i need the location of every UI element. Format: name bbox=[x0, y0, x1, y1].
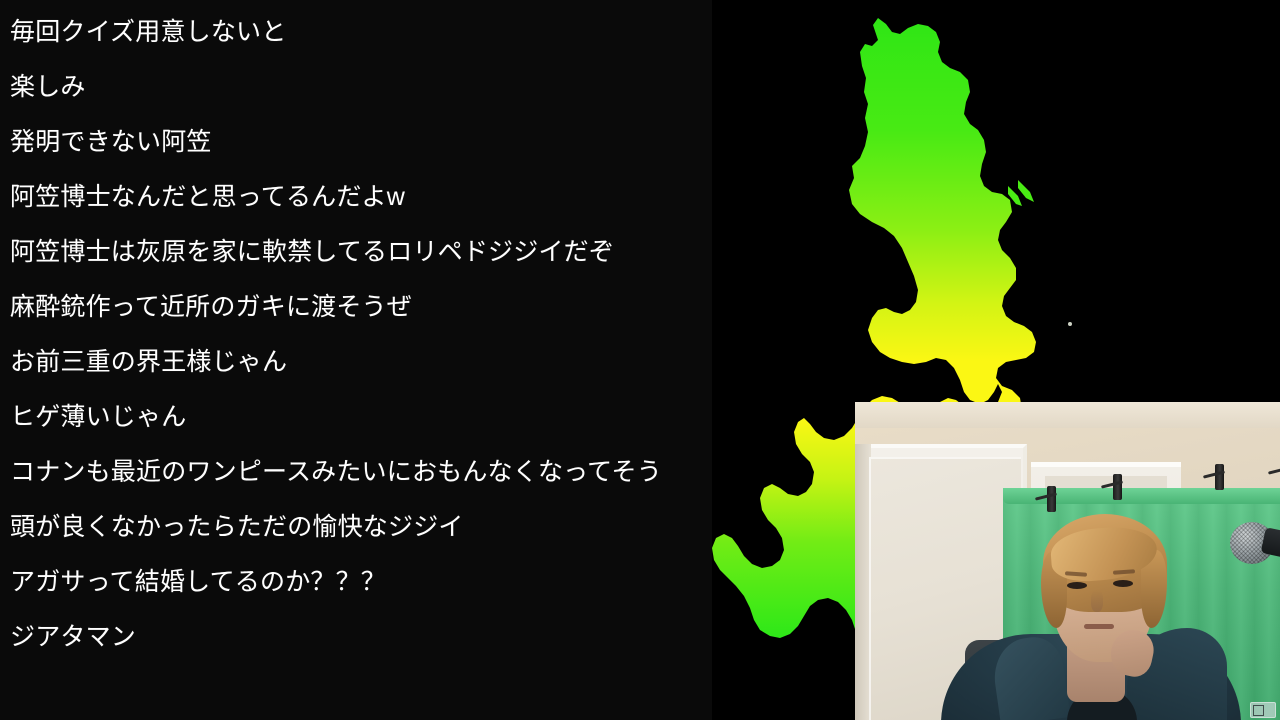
chat-message: お前三重の界王様じゃん bbox=[10, 347, 700, 378]
chat-message: 阿笠博士は灰原を家に軟禁してるロリペドジジイだぞ bbox=[10, 237, 700, 268]
streamer-eye-left bbox=[1067, 582, 1087, 589]
chat-message: コナンも最近のワンピースみたいにおもんなくなってそう bbox=[10, 457, 700, 488]
chat-message: 楽しみ bbox=[10, 72, 700, 103]
chat-message: 阿笠博士なんだと思ってるんだよw bbox=[10, 182, 700, 213]
mie-islet-2 bbox=[1018, 180, 1034, 202]
chat-message: 毎回クイズ用意しないと bbox=[10, 17, 700, 48]
mie-islet-dot bbox=[1068, 322, 1072, 326]
chat-message: 麻酔銃作って近所のガキに渡そうぜ bbox=[10, 292, 700, 323]
streamer-mouth bbox=[1084, 624, 1114, 629]
video-player-hud-icon[interactable] bbox=[1250, 702, 1276, 718]
room-ceiling bbox=[855, 402, 1280, 428]
stream-stage: 毎回クイズ用意しないと楽しみ発明できない阿笠阿笠博士なんだと思ってるんだよw阿笠… bbox=[0, 0, 1280, 720]
binder-clip-icon-2 bbox=[1113, 474, 1122, 500]
chat-message: ヒゲ薄いじゃん bbox=[10, 402, 700, 433]
chat-message: アガサって結婚してるのか？？？ bbox=[10, 567, 700, 598]
binder-clip-icon-3 bbox=[1215, 464, 1224, 490]
streamer-webcam-overlay[interactable] bbox=[855, 402, 1280, 720]
live-chat-panel[interactable]: 毎回クイズ用意しないと楽しみ発明できない阿笠阿笠博士なんだと思ってるんだよw阿笠… bbox=[0, 0, 712, 720]
chat-message-list[interactable]: 毎回クイズ用意しないと楽しみ発明できない阿笠阿笠博士なんだと思ってるんだよw阿笠… bbox=[0, 0, 712, 653]
chat-message: 発明できない阿笠 bbox=[10, 127, 700, 158]
streamer-nose bbox=[1091, 590, 1103, 612]
chat-message: ジアタマン bbox=[10, 622, 700, 653]
streamer-eye-right bbox=[1113, 580, 1133, 587]
chat-message: 頭が良くなかったらただの愉快なジジイ bbox=[10, 512, 700, 543]
binder-clip-icon-1 bbox=[1047, 486, 1056, 512]
